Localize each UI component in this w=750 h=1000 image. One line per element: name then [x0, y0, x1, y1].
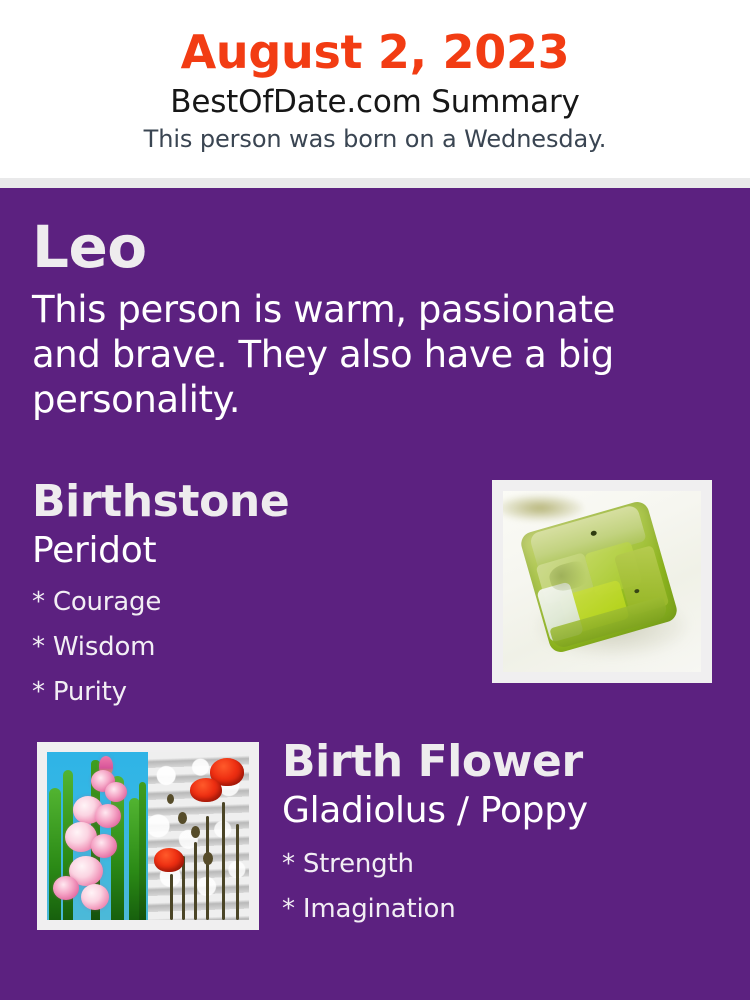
poppy-flower [154, 848, 184, 872]
site-name-subtitle: BestOfDate.com Summary [0, 79, 750, 121]
poppy-photo-half [148, 752, 249, 920]
list-item: * Purity [32, 670, 462, 715]
stem [206, 816, 209, 920]
stem [222, 802, 225, 920]
birthstone-trait-list: * Courage * Wisdom * Purity [32, 572, 462, 715]
flower-bloom [95, 804, 121, 828]
flower-bloom [81, 884, 109, 910]
gladiolus-photo-half [47, 752, 148, 920]
birthstone-image-frame [492, 480, 712, 683]
stem [139, 782, 146, 920]
list-item: * Imagination [282, 887, 702, 932]
list-item: * Strength [282, 842, 702, 887]
birth-flower-trait-list: * Strength * Imagination [282, 832, 702, 932]
zodiac-description: This person is warm, passionate and brav… [32, 279, 680, 422]
content-panel: Leo This person is warm, passionate and … [0, 188, 750, 1000]
stem [170, 874, 173, 920]
birthstone-heading: Birthstone [32, 476, 462, 528]
leaf [49, 788, 61, 920]
peridot-gemstone-image [503, 491, 701, 672]
gladiolus-and-poppy-image [47, 752, 249, 920]
poppy-bud [191, 826, 200, 838]
zodiac-sign-name: Leo [32, 215, 692, 279]
list-item: * Wisdom [32, 625, 462, 670]
birth-flower-section: Birth Flower Gladiolus / Poppy * Strengt… [282, 736, 702, 932]
birth-flower-heading: Birth Flower [282, 736, 702, 788]
flower-bloom [91, 834, 117, 858]
header-divider [0, 178, 750, 188]
birth-flower-image-frame [37, 742, 259, 930]
summary-card: August 2, 2023 BestOfDate.com Summary Th… [0, 0, 750, 1000]
card-header: August 2, 2023 BestOfDate.com Summary Th… [0, 0, 750, 178]
flower-bloom [53, 876, 79, 900]
born-weekday-text: This person was born on a Wednesday. [0, 121, 750, 154]
birthstone-name: Peridot [32, 528, 462, 572]
flower-bloom [105, 782, 127, 802]
poppy-bud [167, 794, 174, 804]
list-item: * Courage [32, 580, 462, 625]
poppy-bud [203, 852, 213, 865]
poppy-flower [190, 778, 222, 802]
birth-flower-name: Gladiolus / Poppy [282, 788, 702, 832]
birthstone-section: Birthstone Peridot * Courage * Wisdom * … [32, 476, 462, 715]
poppy-bud [178, 812, 187, 824]
stem [194, 842, 197, 920]
page-title-date: August 2, 2023 [0, 0, 750, 79]
stem [236, 824, 239, 920]
zodiac-section: Leo This person is warm, passionate and … [32, 215, 692, 422]
photo-smudge [503, 495, 583, 521]
